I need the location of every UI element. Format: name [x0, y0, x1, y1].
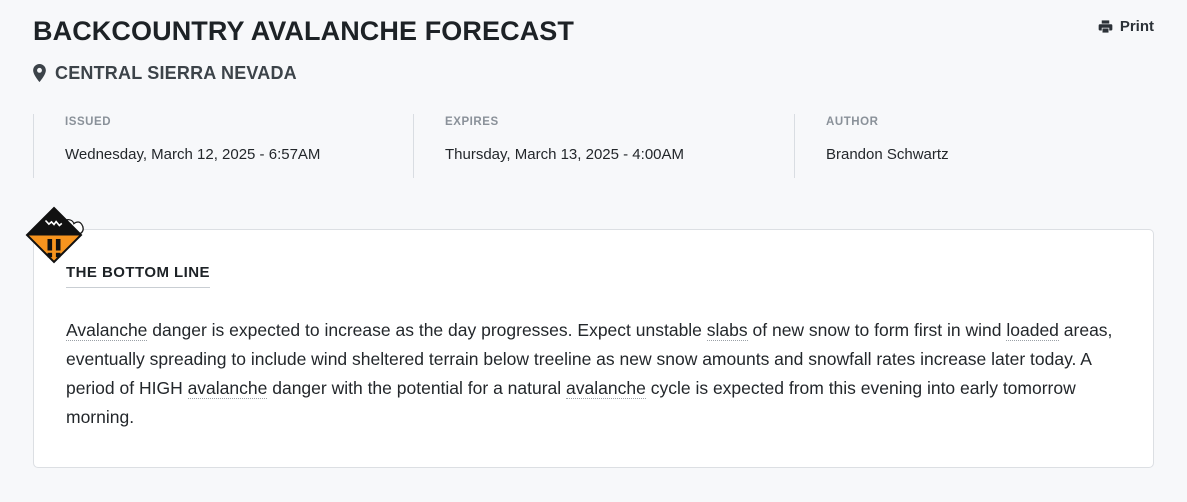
glossary-term[interactable]: slabs — [707, 320, 748, 341]
meta-issued: ISSUED Wednesday, March 12, 2025 - 6:57A… — [33, 114, 413, 178]
meta-author-label: AUTHOR — [826, 114, 1096, 129]
meta-issued-label: ISSUED — [65, 114, 385, 129]
forecast-page: BACKCOUNTRY AVALANCHE FORECAST Print C — [0, 0, 1187, 502]
glossary-term[interactable]: avalanche — [566, 378, 646, 399]
meta-expires-value: Thursday, March 13, 2025 - 4:00AM — [445, 147, 766, 162]
bottom-line-card: THE BOTTOM LINE Avalanche danger is expe… — [33, 229, 1154, 468]
glossary-term[interactable]: Avalanche — [66, 320, 147, 341]
location-name: CENTRAL SIERRA NEVADA — [55, 63, 297, 84]
glossary-term[interactable]: loaded — [1006, 320, 1059, 341]
meta-expires: EXPIRES Thursday, March 13, 2025 - 4:00A… — [413, 114, 794, 178]
meta-author: AUTHOR Brandon Schwartz — [794, 114, 1124, 178]
forecast-header: BACKCOUNTRY AVALANCHE FORECAST Print C — [0, 0, 1187, 84]
location-row: CENTRAL SIERRA NEVADA — [33, 63, 1154, 84]
meta-issued-value: Wednesday, March 12, 2025 - 6:57AM — [65, 147, 385, 162]
title-row: BACKCOUNTRY AVALANCHE FORECAST Print — [33, 10, 1154, 49]
forecast-meta: ISSUED Wednesday, March 12, 2025 - 6:57A… — [33, 114, 1187, 178]
map-pin-icon — [33, 64, 46, 82]
printer-icon — [1098, 19, 1113, 34]
meta-author-value: Brandon Schwartz — [826, 147, 1096, 162]
bottom-line-text: Avalanche danger is expected to increase… — [66, 316, 1121, 432]
print-button[interactable]: Print — [1098, 10, 1154, 35]
glossary-term[interactable]: avalanche — [188, 378, 268, 399]
avalanche-danger-diamond-icon — [22, 204, 92, 270]
print-button-label: Print — [1120, 18, 1154, 35]
meta-expires-label: EXPIRES — [445, 114, 766, 129]
page-title: BACKCOUNTRY AVALANCHE FORECAST — [33, 10, 574, 49]
